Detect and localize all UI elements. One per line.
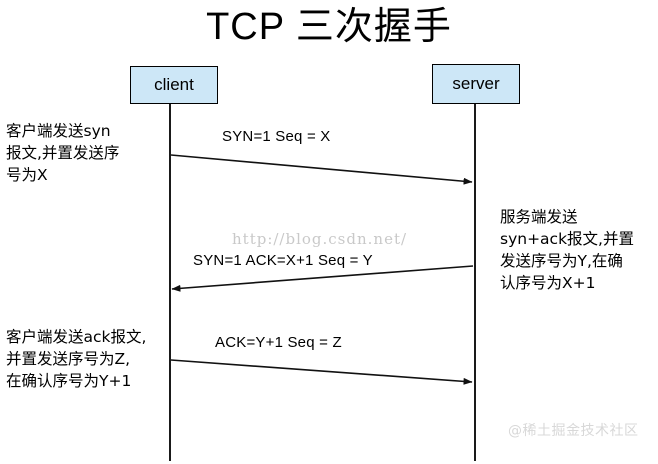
arrow-syn <box>171 155 472 182</box>
message-label-syn: SYN=1 Seq = X <box>222 128 331 145</box>
note-client-ack-line-2: 并置发送序号为Z, <box>6 348 176 370</box>
note-client-syn-line-1: 客户端发送syn <box>6 120 166 142</box>
tcp-handshake-diagram: TCP 三次握手 client server SYN=1 Seq = X SYN… <box>0 0 658 464</box>
note-client-ack: 客户端发送ack报文, 并置发送序号为Z, 在确认序号为Y+1 <box>6 326 176 392</box>
message-label-syn-ack: SYN=1 ACK=X+1 Seq = Y <box>193 252 373 269</box>
note-server-syn-ack: 服务端发送 syn+ack报文,并置 发送序号为Y,在确 认序号为X+1 <box>500 206 656 294</box>
arrow-ack <box>171 360 472 382</box>
note-server-syn-ack-line-4: 认序号为X+1 <box>500 272 656 294</box>
message-label-ack: ACK=Y+1 Seq = Z <box>215 334 342 351</box>
note-client-ack-line-1: 客户端发送ack报文, <box>6 326 176 348</box>
note-client-ack-line-3: 在确认序号为Y+1 <box>6 370 176 392</box>
note-server-syn-ack-line-1: 服务端发送 <box>500 206 656 228</box>
arrow-syn-ack <box>172 266 473 289</box>
watermark-url: http://blog.csdn.net/ <box>232 230 407 248</box>
watermark-brand: @稀土掘金技术社区 <box>508 420 639 440</box>
note-client-syn-line-2: 报文,并置发送序 <box>6 142 166 164</box>
note-client-syn: 客户端发送syn 报文,并置发送序 号为X <box>6 120 166 186</box>
note-server-syn-ack-line-3: 发送序号为Y,在确 <box>500 250 656 272</box>
note-server-syn-ack-line-2: syn+ack报文,并置 <box>500 228 656 250</box>
note-client-syn-line-3: 号为X <box>6 164 166 186</box>
